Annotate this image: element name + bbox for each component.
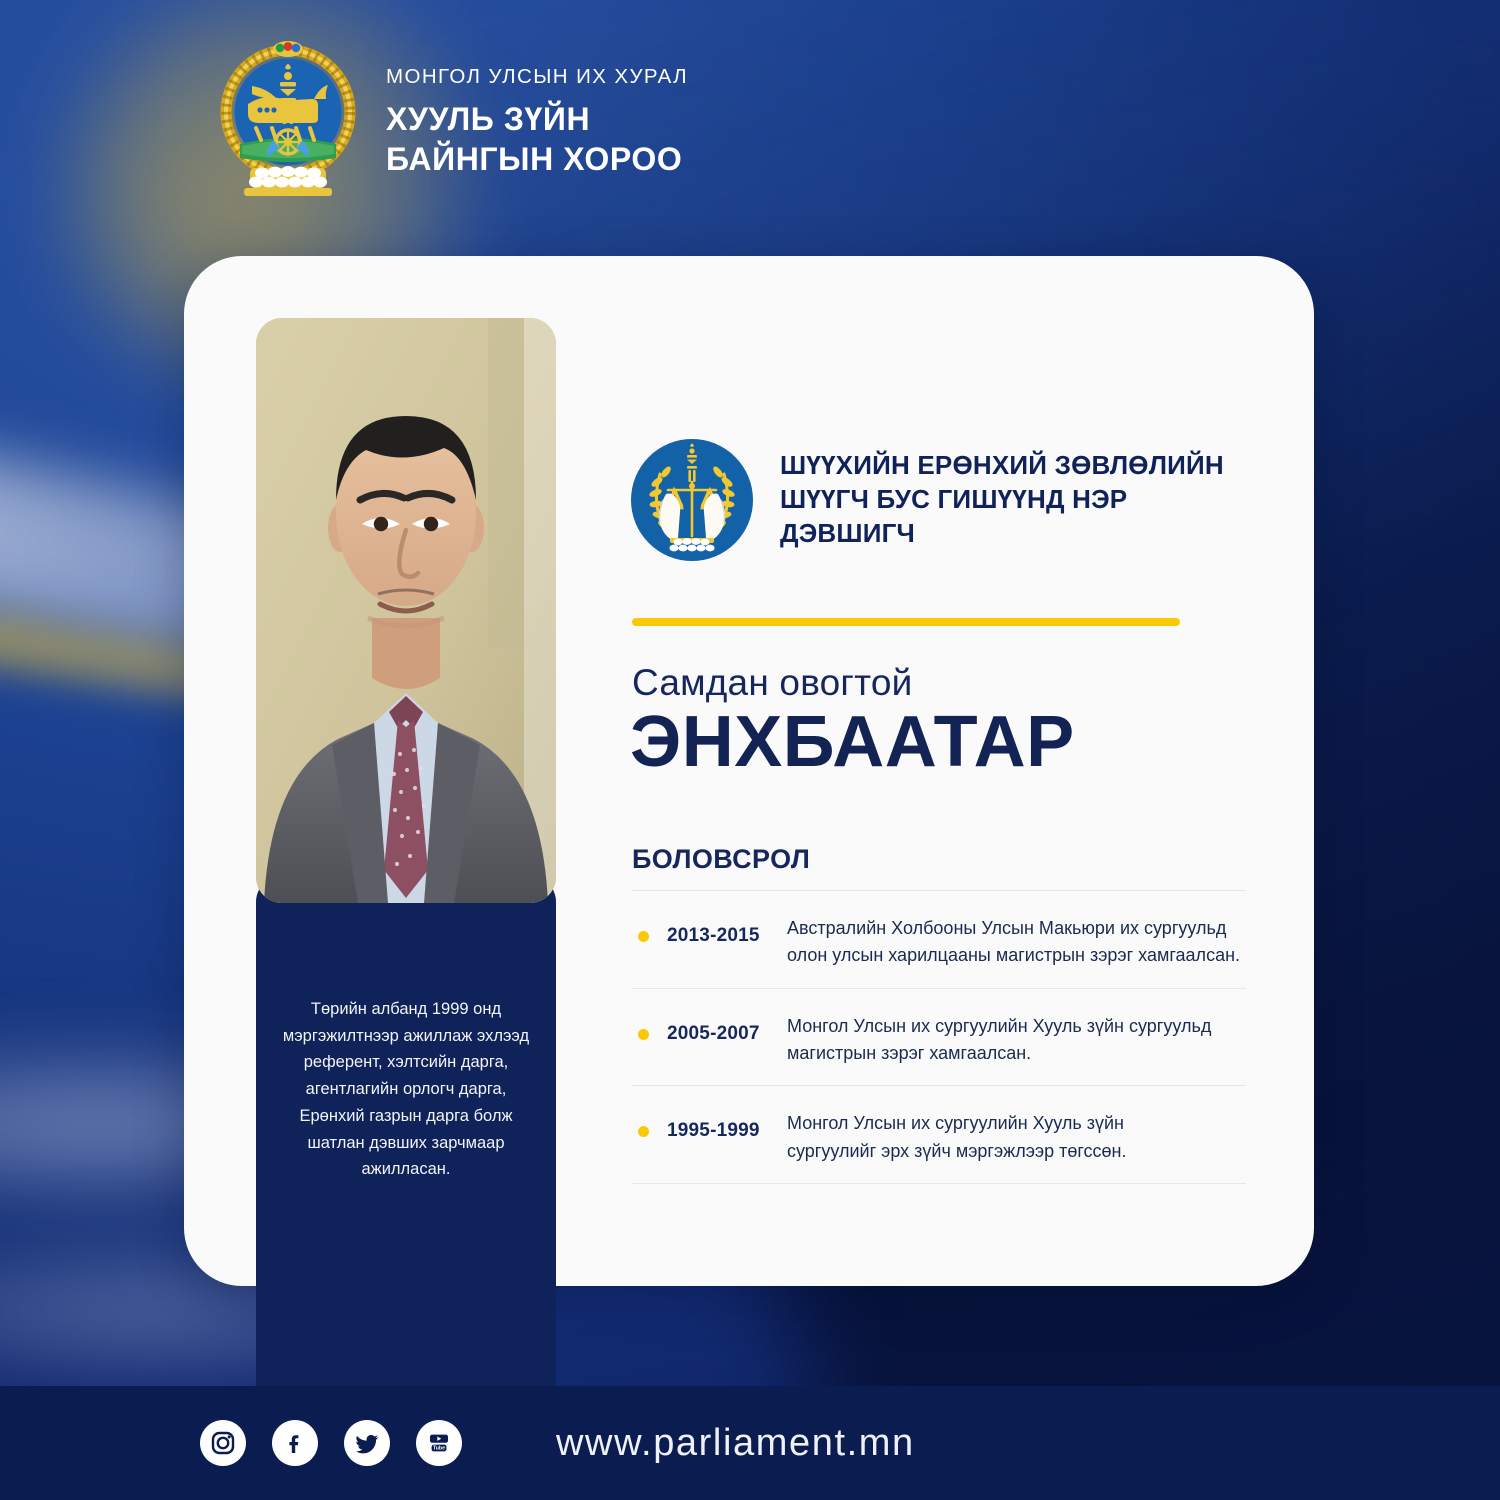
social-links: Tube: [200, 1420, 462, 1466]
education-description: Монгол Улсын их сургуулийн Хууль зүйн су…: [787, 1104, 1126, 1165]
poster-footer: Tube www.parliament.mn: [0, 1386, 1500, 1500]
social-link-instagram[interactable]: [200, 1420, 246, 1466]
education-row: 2013-2015 Австралийн Холбооны Улсын Макь…: [632, 890, 1246, 988]
education-years: 2013-2015: [667, 909, 787, 947]
bullet-icon: [638, 1126, 649, 1137]
education-row: 2005-2007 Монгол Улсын их сургуулийн Хуу…: [632, 988, 1246, 1086]
organization-name: МОНГОЛ УЛСЫН ИХ ХУРАЛ: [386, 65, 688, 89]
biography-text: Төрийн албанд 1999 онд мэргэжилтнээр ажи…: [280, 996, 532, 1183]
gold-divider-rule: [632, 618, 1180, 626]
social-link-facebook[interactable]: [272, 1420, 318, 1466]
candidate-given-name: ЭНХБААТАР: [630, 704, 1075, 782]
education-description: Австралийн Холбооны Улсын Макьюри их сур…: [787, 909, 1240, 970]
mongolia-state-emblem-icon: [212, 40, 364, 200]
education-row: 1995-1999 Монгол Улсын их сургуулийн Хуу…: [632, 1085, 1246, 1184]
header-text-block: МОНГОЛ УЛСЫН ИХ ХУРАЛ ХУУЛЬ ЗҮЙН БАЙНГЫН…: [386, 61, 688, 180]
twitter-icon: [354, 1430, 380, 1456]
facebook-icon: [282, 1430, 308, 1456]
education-section-title: БОЛОВСРОЛ: [632, 844, 810, 875]
bullet-icon: [638, 1029, 649, 1040]
education-years: 2005-2007: [667, 1007, 787, 1045]
education-years: 1995-1999: [667, 1104, 787, 1142]
biography-box: Төрийн албанд 1999 онд мэргэжилтнээр ажи…: [256, 876, 556, 1456]
website-url[interactable]: www.parliament.mn: [556, 1422, 915, 1465]
council-title: ШҮҮХИЙН ЕРӨНХИЙ ЗӨВЛӨЛИЙН ШҮҮГЧ БУС ГИШҮ…: [780, 449, 1250, 550]
committee-name: ХУУЛЬ ЗҮЙН БАЙНГЫН ХОРОО: [386, 99, 688, 180]
candidate-photo: [256, 318, 556, 903]
education-list: 2013-2015 Австралийн Холбооны Улсын Макь…: [632, 890, 1246, 1184]
poster-header: МОНГОЛ УЛСЫН ИХ ХУРАЛ ХУУЛЬ ЗҮЙН БАЙНГЫН…: [212, 40, 688, 200]
svg-text:Tube: Tube: [433, 1446, 445, 1452]
candidate-surname: Самдан овогтой: [632, 662, 913, 704]
council-heading-row: ШҮҮХИЙН ЕРӨНХИЙ ЗӨВЛӨЛИЙН ШҮҮГЧ БУС ГИШҮ…: [630, 438, 1250, 562]
poster-canvas: МОНГОЛ УЛСЫН ИХ ХУРАЛ ХУУЛЬ ЗҮЙН БАЙНГЫН…: [0, 0, 1500, 1500]
social-link-youtube[interactable]: Tube: [416, 1420, 462, 1466]
portrait-illustration: [256, 318, 556, 903]
card-right-column: ШҮҮХИЙН ЕРӨНХИЙ ЗӨВЛӨЛИЙН ШҮҮГЧ БУС ГИШҮ…: [630, 256, 1250, 1286]
social-link-twitter[interactable]: [344, 1420, 390, 1466]
education-description: Монгол Улсын их сургуулийн Хууль зүйн су…: [787, 1007, 1211, 1068]
bullet-icon: [638, 931, 649, 942]
candidate-card: Төрийн албанд 1999 онд мэргэжилтнээр ажи…: [184, 256, 1314, 1286]
youtube-icon: Tube: [426, 1430, 452, 1456]
instagram-icon: [210, 1430, 236, 1456]
judicial-general-council-emblem-icon: [630, 438, 754, 562]
